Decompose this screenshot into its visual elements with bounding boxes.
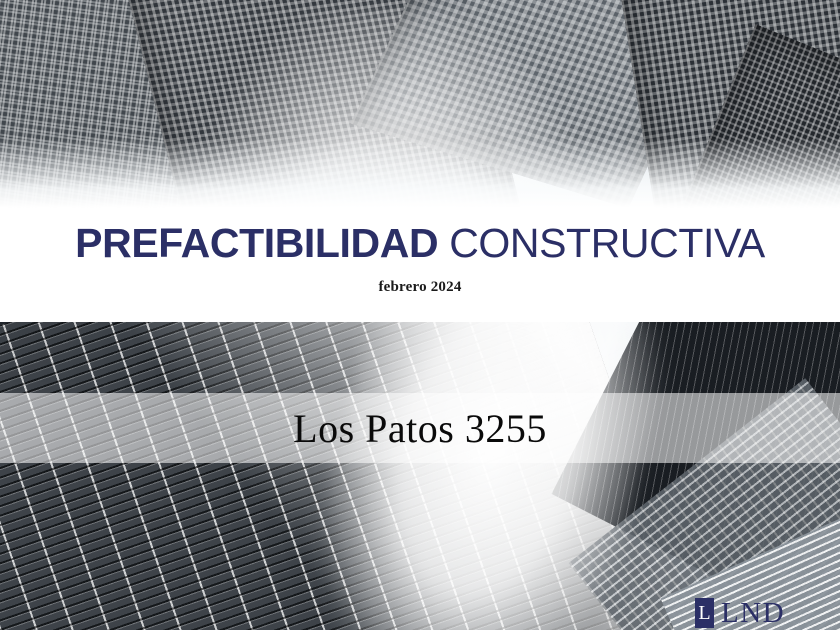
title-strong-part: PREFACTIBILIDAD — [75, 220, 438, 266]
project-name: Los Patos 3255 — [293, 405, 547, 452]
title-band: PREFACTIBILIDAD CONSTRUCTIVA febrero 202… — [0, 208, 840, 322]
logo-badge-icon: L — [695, 598, 714, 628]
top-building-photo — [0, 0, 840, 208]
title-light-text: CONSTRUCTIVA — [449, 220, 765, 266]
page-title: PREFACTIBILIDAD CONSTRUCTIVA — [75, 222, 765, 265]
presentation-date: febrero 2024 — [378, 279, 461, 296]
company-logo: L LND — [695, 598, 785, 628]
bottom-building-photo — [0, 322, 840, 630]
photo-bottom-fade — [0, 138, 840, 208]
title-light-part — [438, 220, 449, 266]
project-name-banner: Los Patos 3255 — [0, 393, 840, 463]
logo-wordmark: LND — [721, 598, 785, 628]
presentation-cover-slide: PREFACTIBILIDAD CONSTRUCTIVA febrero 202… — [0, 0, 840, 630]
